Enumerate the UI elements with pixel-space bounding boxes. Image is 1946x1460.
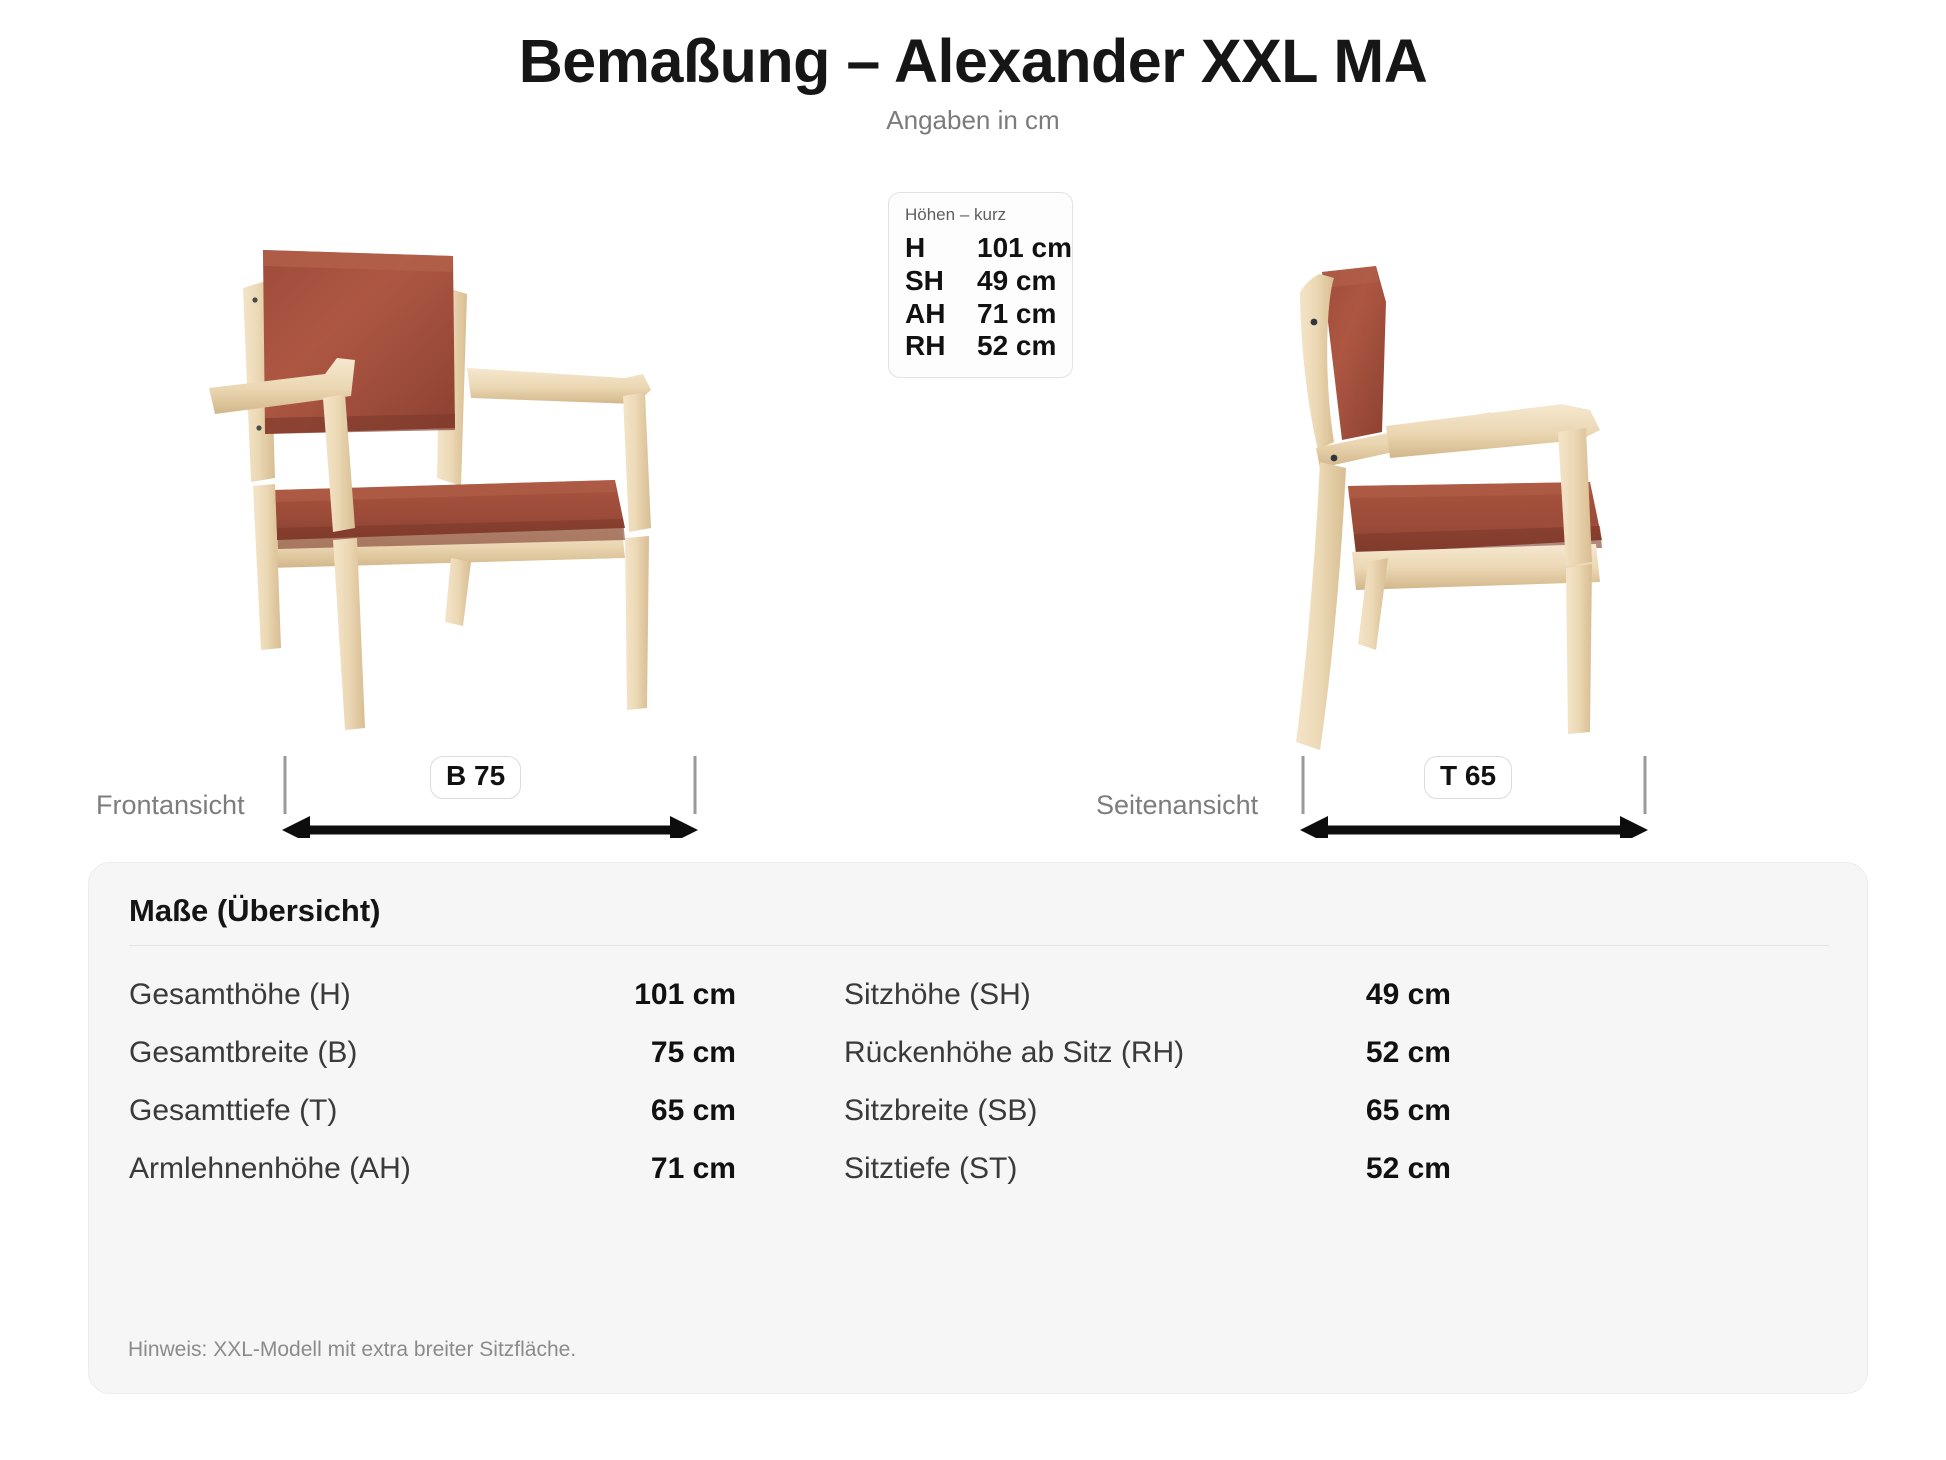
chair-front-view-image bbox=[205, 228, 755, 768]
heights-key: AH bbox=[905, 298, 977, 331]
measures-card-title: Maße (Übersicht) bbox=[129, 893, 1829, 929]
measure-value: 65 cm bbox=[1289, 1082, 1559, 1140]
measure-value: 52 cm bbox=[1289, 1024, 1559, 1082]
heights-value: 101 cm bbox=[977, 232, 1072, 265]
measure-label: Armlehnenhöhe (AH) bbox=[129, 1140, 574, 1198]
heights-key: H bbox=[905, 232, 977, 265]
measure-value: 101 cm bbox=[574, 966, 844, 1024]
measure-value: 65 cm bbox=[574, 1082, 844, 1140]
heights-value: 49 cm bbox=[977, 265, 1056, 298]
heights-callout: Höhen – kurz H 101 cm SH 49 cm AH 71 cm … bbox=[888, 192, 1073, 378]
view-label-front: Frontansicht bbox=[96, 790, 245, 821]
measures-card: Maße (Übersicht) Gesamthöhe (H) 101 cm S… bbox=[88, 862, 1868, 1394]
chair-front-svg bbox=[205, 228, 755, 768]
heights-callout-row: AH 71 cm bbox=[905, 298, 1056, 331]
measure-value: 75 cm bbox=[574, 1024, 844, 1082]
view-label-side: Seitenansicht bbox=[1096, 790, 1258, 821]
measure-label: Sitztiefe (ST) bbox=[844, 1140, 1289, 1198]
heights-key: SH bbox=[905, 265, 977, 298]
measure-label: Rückenhöhe ab Sitz (RH) bbox=[844, 1024, 1289, 1082]
page-title: Bemaßung – Alexander XXL MA bbox=[0, 26, 1946, 96]
chair-side-svg bbox=[1290, 262, 1680, 768]
dimension-badge-depth: T 65 bbox=[1424, 756, 1512, 799]
measures-table: Gesamthöhe (H) 101 cm Sitzhöhe (SH) 49 c… bbox=[129, 966, 1829, 1198]
measure-value: 71 cm bbox=[574, 1140, 844, 1198]
measure-label: Gesamtbreite (B) bbox=[129, 1024, 574, 1082]
heights-value: 71 cm bbox=[977, 298, 1056, 331]
heights-callout-row: H 101 cm bbox=[905, 232, 1056, 265]
page-subtitle: Angaben in cm bbox=[0, 105, 1946, 136]
measure-label: Gesamttiefe (T) bbox=[129, 1082, 574, 1140]
diagram-page: Bemaßung – Alexander XXL MA Angaben in c… bbox=[0, 0, 1946, 1460]
dimension-badge-width: B 75 bbox=[430, 756, 521, 799]
heights-callout-row: SH 49 cm bbox=[905, 265, 1056, 298]
card-divider bbox=[129, 945, 1829, 946]
measure-value: 49 cm bbox=[1289, 966, 1559, 1024]
heights-value: 52 cm bbox=[977, 330, 1056, 363]
heights-callout-row: RH 52 cm bbox=[905, 330, 1056, 363]
measure-label: Sitzbreite (SB) bbox=[844, 1082, 1289, 1140]
heights-key: RH bbox=[905, 330, 977, 363]
card-note: Hinweis: XXL-Modell mit extra breiter Si… bbox=[128, 1338, 576, 1362]
heights-callout-title: Höhen – kurz bbox=[905, 205, 1056, 225]
measure-label: Gesamthöhe (H) bbox=[129, 966, 574, 1024]
chair-side-view-image bbox=[1290, 262, 1680, 768]
measure-label: Sitzhöhe (SH) bbox=[844, 966, 1289, 1024]
measure-value: 52 cm bbox=[1289, 1140, 1559, 1198]
